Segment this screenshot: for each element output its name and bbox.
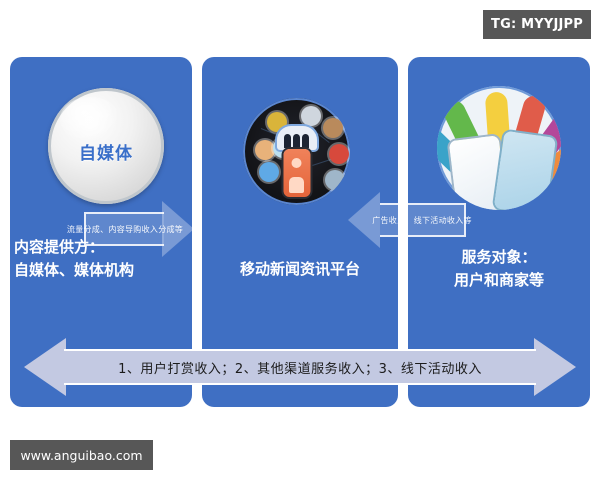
app-icon [329, 144, 349, 164]
site-watermark-badge: www.anguibao.com [10, 440, 153, 470]
site-watermark-label: www.anguibao.com [20, 448, 142, 463]
arrow-head-left-icon [24, 338, 66, 396]
caption-service-target: 服务对象： 用户和商家等 [408, 246, 590, 291]
smartphone-icon [283, 149, 310, 197]
arrow-head-left-icon [348, 192, 380, 248]
caption-service-target-line1: 服务对象： [408, 246, 590, 269]
app-icon [255, 140, 275, 160]
app-icon [323, 118, 343, 138]
caption-platform: 移动新闻资讯平台 [202, 258, 398, 281]
devices-fan-photo-icon [437, 86, 561, 210]
arrow-bottom-label: 1、用户打赏收入；2、其他渠道服务收入；3、线下活动收入 [118, 358, 482, 377]
arrow-right-to-center-label: 广告收入、线下活动收入等 [372, 215, 472, 226]
tg-watermark-badge: TG: MYYJJPP [483, 10, 591, 39]
app-icon [301, 106, 321, 126]
tg-watermark-label: TG: MYYJJPP [491, 17, 583, 32]
arrow-bottom-body: 1、用户打赏收入；2、其他渠道服务收入；3、线下活动收入 [64, 349, 536, 385]
caption-content-provider-line2: 自媒体、媒体机构 [14, 259, 186, 282]
caption-content-provider-line1: 内容提供方： [14, 236, 186, 259]
user-app-icon [259, 162, 279, 182]
arrow-right-to-center: 广告收入、线下活动收入等 [348, 203, 466, 237]
diagram-canvas: TG: MYYJJPP 自媒体 [0, 0, 600, 480]
tablet-blue-icon [494, 131, 556, 210]
audience-group-icon [277, 126, 317, 150]
arrow-head-right-icon [534, 338, 576, 396]
caption-platform-line1: 移动新闻资讯平台 [202, 258, 398, 281]
caption-service-target-line2: 用户和商家等 [408, 269, 590, 292]
arrow-bottom-revenue: 1、用户打赏收入；2、其他渠道服务收入；3、线下活动收入 [24, 338, 576, 396]
mobile-network-photo-icon [243, 98, 350, 205]
app-icon [325, 170, 345, 190]
self-media-sphere-icon: 自媒体 [48, 88, 164, 204]
caption-content-provider: 内容提供方： 自媒体、媒体机构 [6, 236, 186, 281]
self-media-sphere-label: 自媒体 [48, 139, 164, 164]
